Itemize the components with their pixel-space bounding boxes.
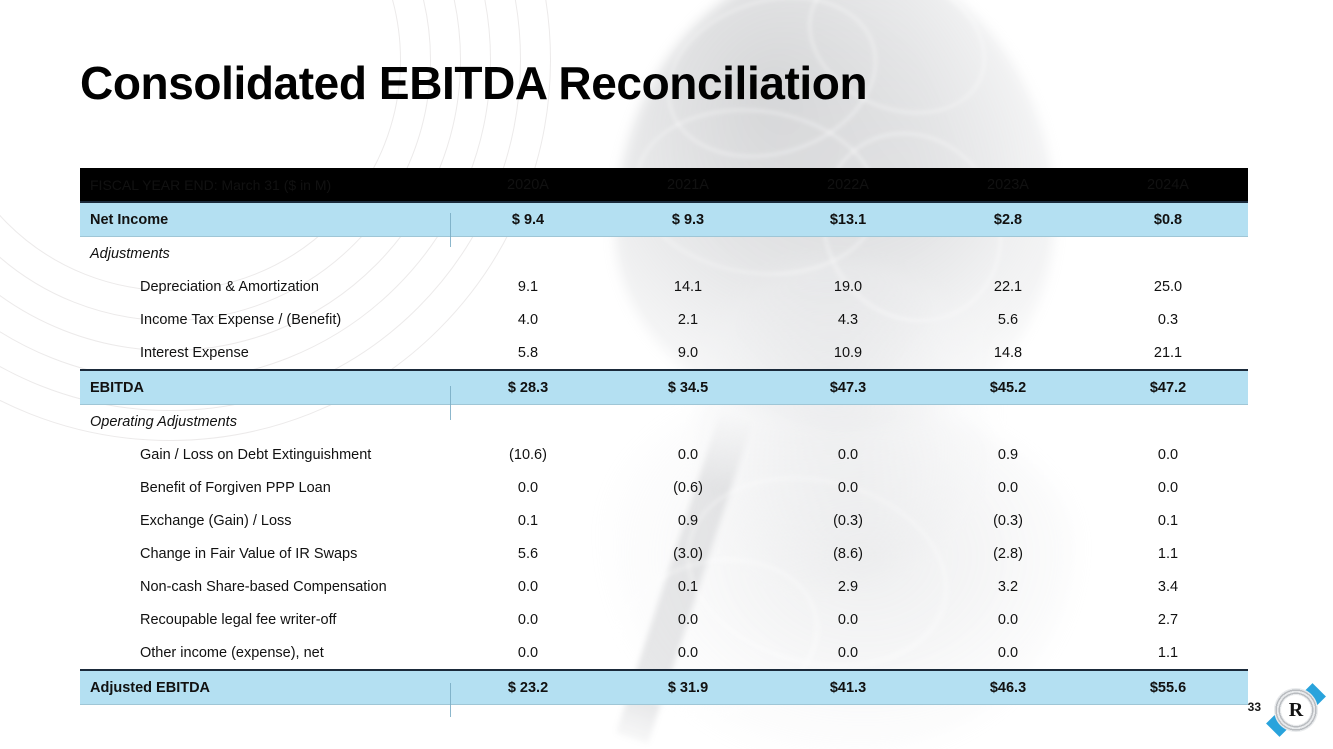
row-value: 0.0: [768, 471, 928, 504]
row-value: [608, 237, 768, 271]
row-value: 0.0: [608, 438, 768, 471]
company-logo-icon: R: [1267, 681, 1325, 739]
table-row: Gain / Loss on Debt Extinguishment (10.6…: [80, 438, 1248, 471]
column-header-2020a: 2020A: [448, 168, 608, 202]
table-row: Other income (expense), net 0.0 0.0 0.0 …: [80, 636, 1248, 670]
row-value: 9.1: [448, 270, 608, 303]
row-value: 0.0: [448, 471, 608, 504]
row-label: Gain / Loss on Debt Extinguishment: [80, 438, 448, 471]
row-value: (8.6): [768, 537, 928, 570]
row-value: 5.8: [448, 336, 608, 370]
row-value: 3.4: [1088, 570, 1248, 603]
row-value: $41.3: [768, 670, 928, 705]
row-label: Recoupable legal fee writer-off: [80, 603, 448, 636]
row-value: 5.6: [448, 537, 608, 570]
row-value: $47.2: [1088, 370, 1248, 405]
table-row: Depreciation & Amortization 9.1 14.1 19.…: [80, 270, 1248, 303]
row-value: 5.6: [928, 303, 1088, 336]
row-value: $46.3: [928, 670, 1088, 705]
row-value: 25.0: [1088, 270, 1248, 303]
row-value: (0.3): [928, 504, 1088, 537]
table-row: Benefit of Forgiven PPP Loan 0.0 (0.6) 0…: [80, 471, 1248, 504]
row-value: 19.0: [768, 270, 928, 303]
column-header-2022a: 2022A: [768, 168, 928, 202]
row-value: 0.1: [448, 504, 608, 537]
row-value: (10.6): [448, 438, 608, 471]
section-label: Adjustments: [80, 237, 448, 271]
row-value: 21.1: [1088, 336, 1248, 370]
row-value: [768, 237, 928, 271]
table-body: Net Income $ 9.4 $ 9.3 $13.1 $2.8 $0.8 A…: [80, 202, 1248, 705]
row-value: (0.3): [768, 504, 928, 537]
row-value: 0.0: [608, 636, 768, 670]
table-row: Adjusted EBITDA $ 23.2 $ 31.9 $41.3 $46.…: [80, 670, 1248, 705]
row-value: 0.0: [928, 471, 1088, 504]
column-header-2021a: 2021A: [608, 168, 768, 202]
row-value: $ 23.2: [448, 670, 608, 705]
row-value: [448, 405, 608, 439]
table-section-heading-row: Adjustments: [80, 237, 1248, 271]
row-value: 14.8: [928, 336, 1088, 370]
table-row: Exchange (Gain) / Loss 0.1 0.9 (0.3) (0.…: [80, 504, 1248, 537]
row-value: $ 31.9: [608, 670, 768, 705]
row-value: 10.9: [768, 336, 928, 370]
logo-letter: R: [1281, 695, 1311, 725]
row-value: $47.3: [768, 370, 928, 405]
row-value: 9.0: [608, 336, 768, 370]
row-value: $0.8: [1088, 202, 1248, 237]
row-value: 0.0: [448, 603, 608, 636]
row-value: [1088, 237, 1248, 271]
column-header-2024a: 2024A: [1088, 168, 1248, 202]
row-value: [768, 405, 928, 439]
row-value: (3.0): [608, 537, 768, 570]
row-value: [608, 405, 768, 439]
row-value: 0.9: [928, 438, 1088, 471]
table-section-heading-row: Operating Adjustments: [80, 405, 1248, 439]
row-value: $ 9.4: [448, 202, 608, 237]
row-value: $ 9.3: [608, 202, 768, 237]
slide-canvas: Consolidated EBITDA Reconciliation FISCA…: [0, 0, 1333, 749]
row-value: [928, 237, 1088, 271]
row-value: 0.9: [608, 504, 768, 537]
row-label: Change in Fair Value of IR Swaps: [80, 537, 448, 570]
row-label: Adjusted EBITDA: [80, 670, 448, 705]
ebitda-reconciliation-table: FISCAL YEAR END: March 31 ($ in M) 2020A…: [80, 168, 1248, 705]
row-value: 0.0: [1088, 471, 1248, 504]
row-value: 0.0: [928, 636, 1088, 670]
row-value: $ 28.3: [448, 370, 608, 405]
row-value: $2.8: [928, 202, 1088, 237]
row-label: Exchange (Gain) / Loss: [80, 504, 448, 537]
row-value: [1088, 405, 1248, 439]
row-value: (2.8): [928, 537, 1088, 570]
row-value: 1.1: [1088, 636, 1248, 670]
row-value: $55.6: [1088, 670, 1248, 705]
row-value: 1.1: [1088, 537, 1248, 570]
column-header-fiscal-year: FISCAL YEAR END: March 31 ($ in M): [80, 168, 448, 202]
table-row: Change in Fair Value of IR Swaps 5.6 (3.…: [80, 537, 1248, 570]
row-label: Net Income: [80, 202, 448, 237]
row-value: 0.0: [448, 570, 608, 603]
table-row: Non-cash Share-based Compensation 0.0 0.…: [80, 570, 1248, 603]
row-value: 3.2: [928, 570, 1088, 603]
column-header-2023a: 2023A: [928, 168, 1088, 202]
page-title: Consolidated EBITDA Reconciliation: [80, 56, 867, 110]
row-value: 0.0: [608, 603, 768, 636]
row-value: 4.3: [768, 303, 928, 336]
row-label: Non-cash Share-based Compensation: [80, 570, 448, 603]
table-header-row: FISCAL YEAR END: March 31 ($ in M) 2020A…: [80, 168, 1248, 202]
row-label: Interest Expense: [80, 336, 448, 370]
row-value: 0.0: [1088, 438, 1248, 471]
row-value: 0.0: [768, 603, 928, 636]
row-label: Depreciation & Amortization: [80, 270, 448, 303]
row-value: 4.0: [448, 303, 608, 336]
row-label: Income Tax Expense / (Benefit): [80, 303, 448, 336]
row-value: $ 34.5: [608, 370, 768, 405]
row-value: 2.9: [768, 570, 928, 603]
row-value: [928, 405, 1088, 439]
row-label: EBITDA: [80, 370, 448, 405]
table-row: EBITDA $ 28.3 $ 34.5 $47.3 $45.2 $47.2: [80, 370, 1248, 405]
table-row: Interest Expense 5.8 9.0 10.9 14.8 21.1: [80, 336, 1248, 370]
row-value: 0.3: [1088, 303, 1248, 336]
row-value: 14.1: [608, 270, 768, 303]
row-value: [448, 237, 608, 271]
table-header: FISCAL YEAR END: March 31 ($ in M) 2020A…: [80, 168, 1248, 202]
row-value: 0.0: [768, 438, 928, 471]
row-value: 0.0: [448, 636, 608, 670]
row-label: Other income (expense), net: [80, 636, 448, 670]
table-row: Recoupable legal fee writer-off 0.0 0.0 …: [80, 603, 1248, 636]
row-value: 0.0: [768, 636, 928, 670]
table-row: Net Income $ 9.4 $ 9.3 $13.1 $2.8 $0.8: [80, 202, 1248, 237]
row-value: (0.6): [608, 471, 768, 504]
row-label: Benefit of Forgiven PPP Loan: [80, 471, 448, 504]
table-row: Income Tax Expense / (Benefit) 4.0 2.1 4…: [80, 303, 1248, 336]
page-number: 33: [1248, 700, 1261, 714]
row-value: $13.1: [768, 202, 928, 237]
row-value: 22.1: [928, 270, 1088, 303]
row-value: 2.1: [608, 303, 768, 336]
row-value: 0.1: [1088, 504, 1248, 537]
row-value: 0.1: [608, 570, 768, 603]
row-value: 2.7: [1088, 603, 1248, 636]
row-value: 0.0: [928, 603, 1088, 636]
section-label: Operating Adjustments: [80, 405, 448, 439]
row-value: $45.2: [928, 370, 1088, 405]
